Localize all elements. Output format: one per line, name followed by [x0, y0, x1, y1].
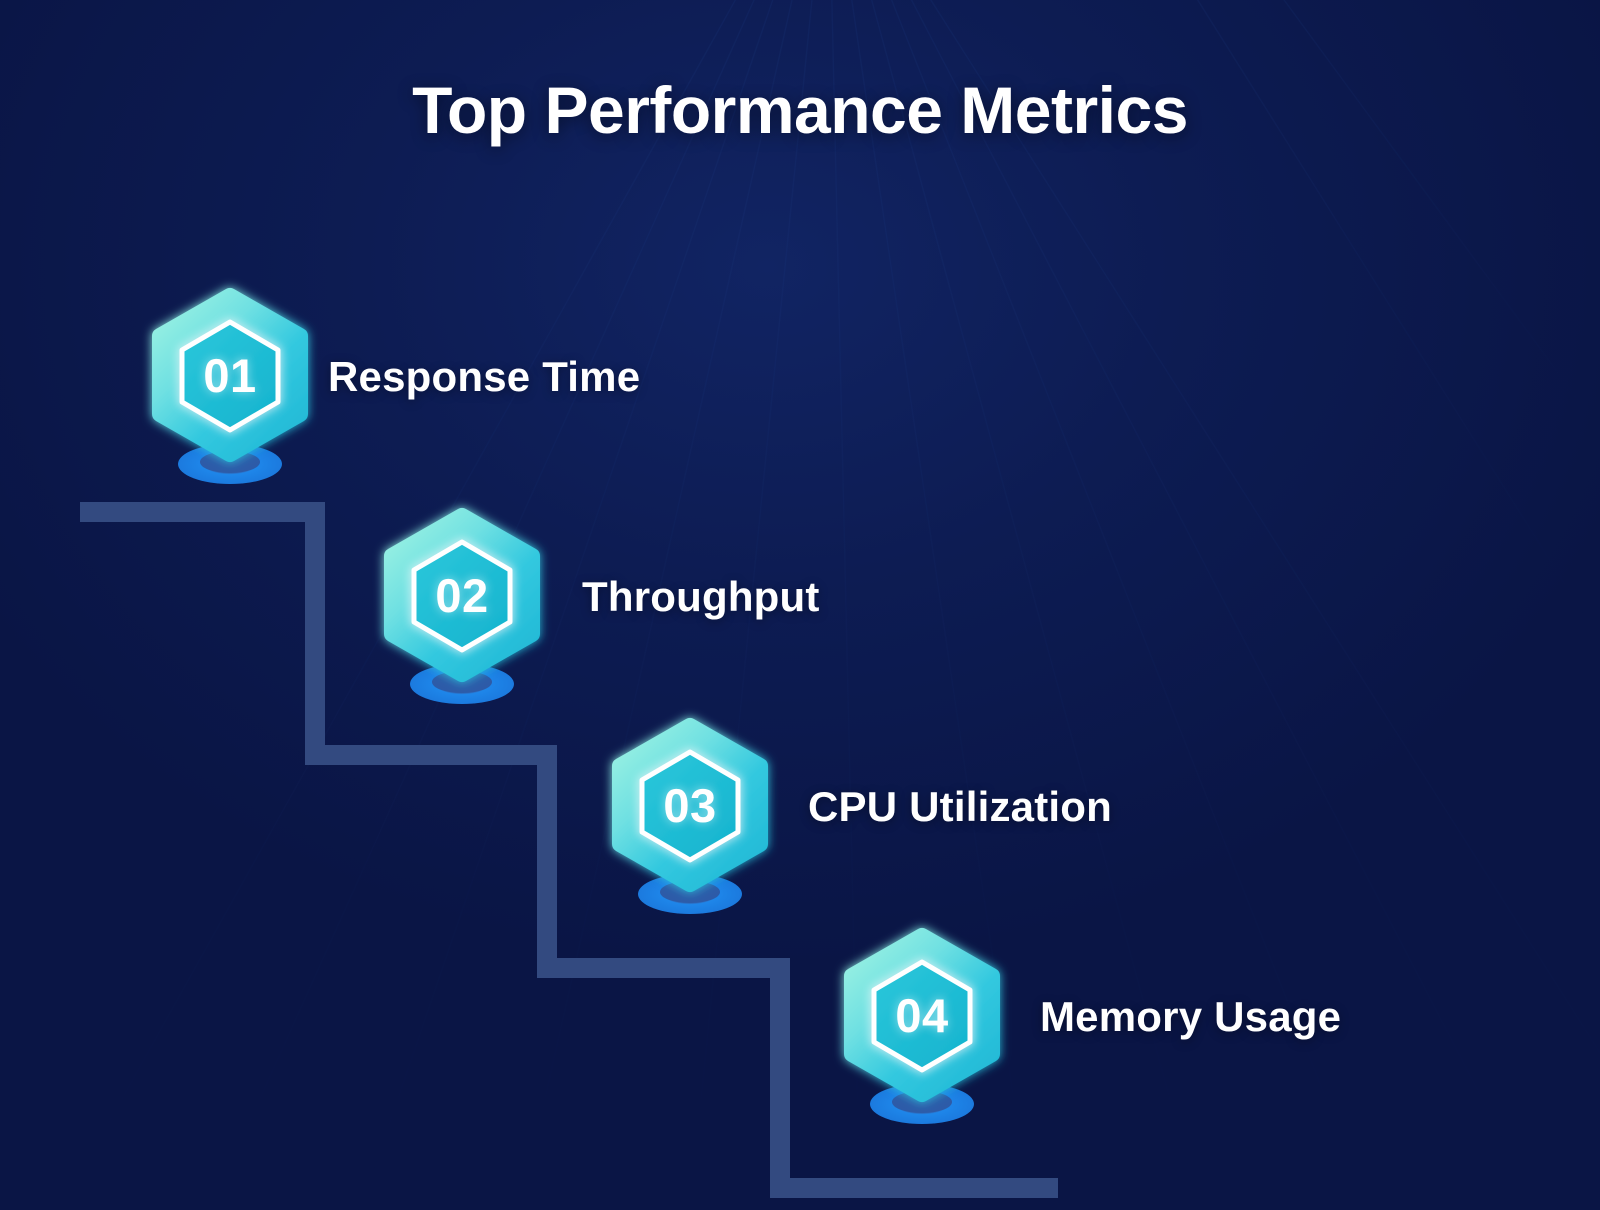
hexagon-badge-icon — [380, 512, 544, 712]
infographic-canvas: 01 Response Time 02 Throughput — [0, 0, 1600, 1210]
metric-label-memory-usage: Memory Usage — [1040, 993, 1341, 1041]
metric-label-response-time: Response Time — [328, 353, 640, 401]
metric-row-throughput[interactable]: 02 Throughput — [380, 512, 820, 712]
metric-label-throughput: Throughput — [582, 573, 820, 621]
badge-01[interactable]: 01 — [148, 292, 312, 492]
hexagon-badge-icon — [608, 722, 772, 922]
badge-04[interactable]: 04 — [840, 932, 1004, 1132]
badge-03[interactable]: 03 — [608, 722, 772, 922]
metric-row-cpu-utilization[interactable]: 03 CPU Utilization — [608, 722, 1112, 922]
badge-02[interactable]: 02 — [380, 512, 544, 712]
metric-label-cpu-utilization: CPU Utilization — [808, 783, 1112, 831]
hexagon-badge-icon — [840, 932, 1004, 1132]
hexagon-badge-icon — [148, 292, 312, 492]
metric-row-memory-usage[interactable]: 04 Memory Usage — [840, 932, 1341, 1132]
page-title: Top Performance Metrics — [0, 72, 1600, 148]
metric-row-response-time[interactable]: 01 Response Time — [148, 292, 640, 492]
